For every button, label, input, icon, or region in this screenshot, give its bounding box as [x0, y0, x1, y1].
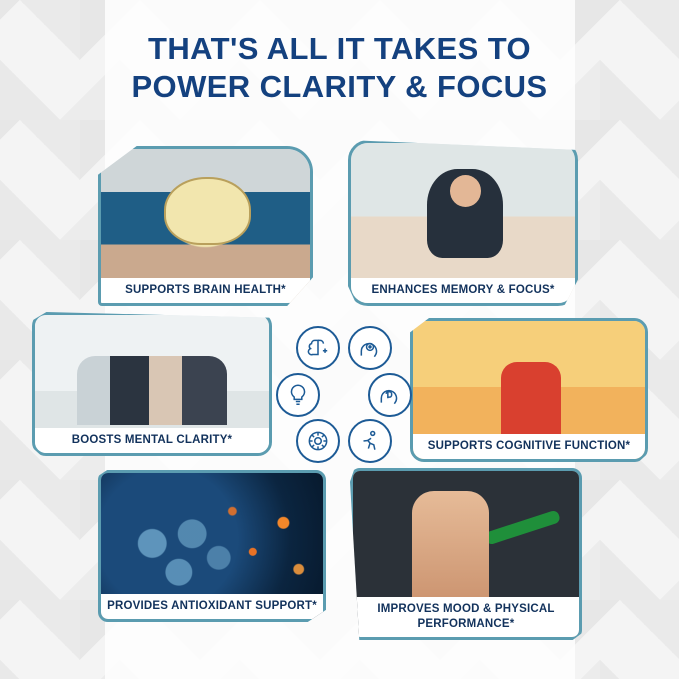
brain-plus-icon — [296, 326, 340, 370]
benefit-caption: SUPPORTS COGNITIVE FUNCTION* — [413, 434, 645, 459]
head-brain-gear-icon — [368, 373, 412, 417]
benefit-caption: IMPROVES MOOD & PHYSICAL PERFORMANCE* — [353, 597, 579, 637]
benefit-caption: PROVIDES ANTIOXIDANT SUPPORT* — [101, 594, 323, 619]
benefit-caption: SUPPORTS BRAIN HEALTH* — [101, 278, 310, 303]
benefit-card-provides-antioxidant-support[interactable]: PROVIDES ANTIOXIDANT SUPPORT* — [98, 470, 326, 622]
benefit-card-supports-cognitive-function[interactable]: SUPPORTS COGNITIVE FUNCTION* — [410, 318, 648, 462]
page-title: THAT'S ALL IT TAKES TO POWER CLARITY & F… — [0, 30, 679, 106]
lightbulb-icon — [276, 373, 320, 417]
infographic-canvas: THAT'S ALL IT TAKES TO POWER CLARITY & F… — [0, 0, 679, 679]
headline-line-2: POWER CLARITY & FOCUS — [0, 68, 679, 106]
benefit-card-supports-brain-health[interactable]: SUPPORTS BRAIN HEALTH* — [98, 146, 313, 306]
benefit-caption: BOOSTS MENTAL CLARITY* — [35, 428, 269, 453]
benefit-caption: ENHANCES MEMORY & FOCUS* — [351, 278, 575, 303]
antioxidant-cell-icon — [296, 419, 340, 463]
head-target-icon — [348, 326, 392, 370]
headline-line-1: THAT'S ALL IT TAKES TO — [148, 31, 531, 66]
runner-icon — [348, 419, 392, 463]
benefit-card-enhances-memory-focus[interactable]: ENHANCES MEMORY & FOCUS* — [348, 140, 578, 306]
benefit-card-improves-mood-physical-performance[interactable]: IMPROVES MOOD & PHYSICAL PERFORMANCE* — [350, 468, 582, 640]
benefit-card-boosts-mental-clarity[interactable]: BOOSTS MENTAL CLARITY* — [32, 312, 272, 456]
